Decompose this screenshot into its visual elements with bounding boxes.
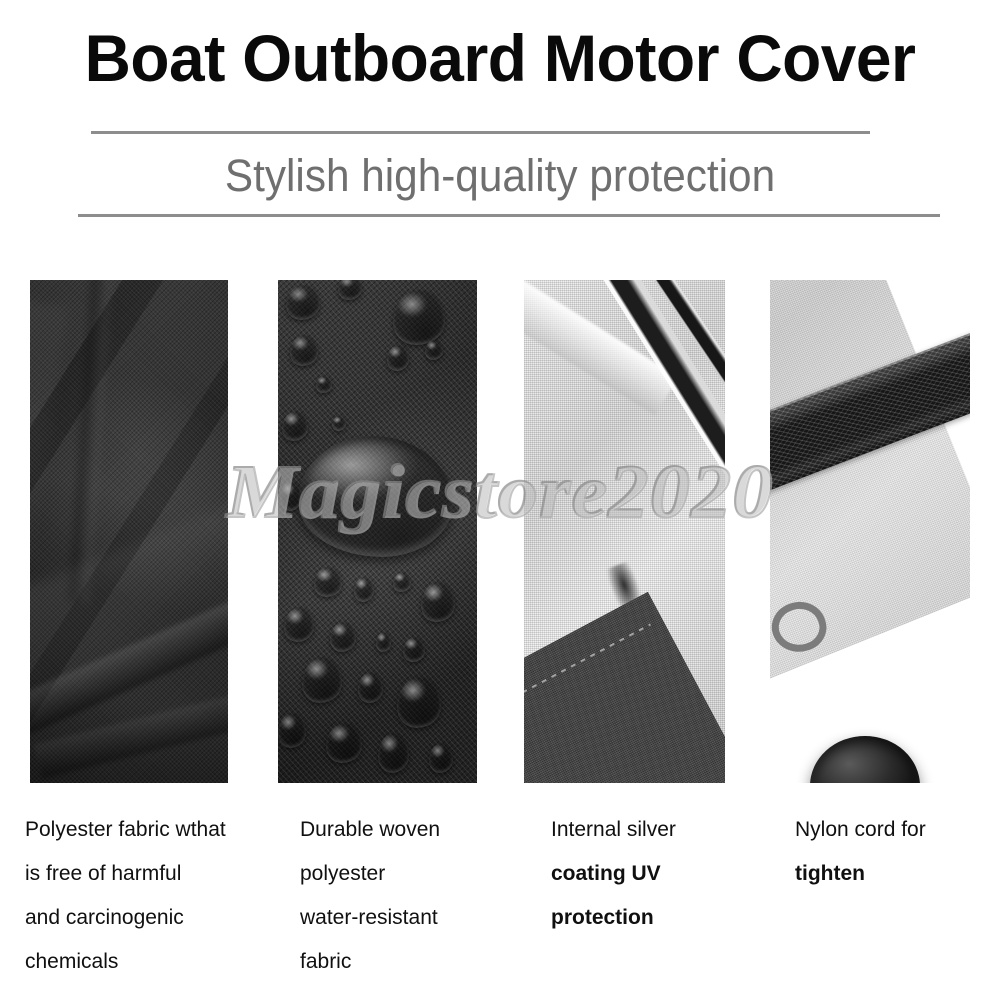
feature-image-water-resistant-fabric	[278, 280, 477, 783]
feature-image-polyester-fabric	[30, 280, 228, 783]
caption-line: coating UV	[551, 852, 761, 896]
caption-nylon-cord: Nylon cord for tighten	[795, 808, 1000, 896]
page-subtitle: Stylish high-quality protection	[30, 145, 970, 207]
caption-line: chemicals	[25, 940, 275, 984]
caption-line: is free of harmful	[25, 852, 275, 896]
photo-vignette	[30, 280, 228, 783]
product-feature-banner: Boat Outboard Motor Cover Stylish high-q…	[0, 0, 1000, 1000]
photo-vignette	[278, 280, 477, 783]
caption-line: tighten	[795, 852, 1000, 896]
divider-bottom	[78, 214, 940, 217]
feature-image-silver-coating	[524, 280, 725, 783]
caption-line: polyester	[300, 852, 515, 896]
caption-line: Internal silver	[551, 808, 761, 852]
caption-line: protection	[551, 896, 761, 940]
page-title: Boat Outboard Motor Cover	[15, 22, 985, 94]
caption-line: water-resistant	[300, 896, 515, 940]
caption-line: and carcinogenic	[25, 896, 275, 940]
caption-water-resistant-fabric: Durable woven polyester water-resistant …	[300, 808, 515, 984]
feature-image-nylon-cord	[770, 280, 970, 783]
caption-polyester-fabric: Polyester fabric wthat is free of harmfu…	[25, 808, 275, 984]
caption-line: Durable woven	[300, 808, 515, 852]
caption-line: fabric	[300, 940, 515, 984]
divider-top	[91, 131, 870, 134]
caption-line: Nylon cord for	[795, 808, 1000, 852]
caption-line: Polyester fabric wthat	[25, 808, 275, 852]
caption-silver-coating: Internal silver coating UV protection	[551, 808, 761, 940]
